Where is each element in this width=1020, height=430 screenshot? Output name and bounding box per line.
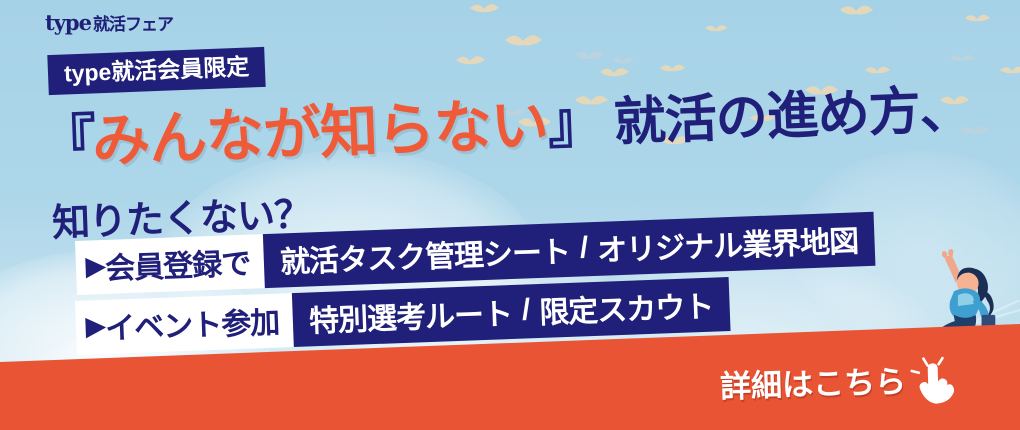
benefit-separator: / — [521, 293, 530, 327]
benefit-condition-label: 会員登録で — [104, 239, 251, 288]
headline-open-quote: 『 — [39, 109, 93, 174]
headline-emphasis: みんなが知らない — [91, 92, 549, 174]
benefit-condition-label: イベント参加 — [104, 298, 279, 348]
brand-logo-latin: type — [45, 10, 91, 35]
benefit-rewards: 就活タスク管理シート / オリジナル業界地図 — [263, 212, 875, 288]
benefit-reward-1: 就活タスク管理シート — [279, 227, 570, 282]
pointing-hand-cursor-icon — [907, 353, 960, 406]
cta-label: 詳細はこちら — [719, 356, 906, 406]
brand-logo[interactable]: type 就活フェア — [45, 10, 173, 35]
benefit-reward-2: 限定スカウト — [538, 282, 713, 332]
benefit-reward-1: 特別選考ルート — [308, 289, 512, 340]
benefit-reward-2: オリジナル業界地図 — [596, 216, 858, 270]
triangle-marker-icon: ▶ — [85, 251, 104, 282]
benefit-rewards: 特別選考ルート / 限定スカウト — [292, 277, 730, 347]
benefit-condition: ▶ 会員登録で — [75, 234, 265, 295]
triangle-marker-icon: ▶ — [85, 311, 104, 342]
cta[interactable]: 詳細はこちら — [719, 349, 960, 412]
headline-rest: 就活の進め方、 — [613, 80, 972, 151]
benefit-condition: ▶ イベント参加 — [75, 293, 294, 355]
brand-logo-japanese: 就活フェア — [93, 10, 173, 35]
benefit-separator: / — [579, 231, 588, 265]
headline-close-quote: 』 — [547, 90, 601, 155]
promo-banner[interactable]: type 就活フェア type就活会員限定 『みんなが知らない』就活の進め方、 … — [0, 0, 1020, 430]
